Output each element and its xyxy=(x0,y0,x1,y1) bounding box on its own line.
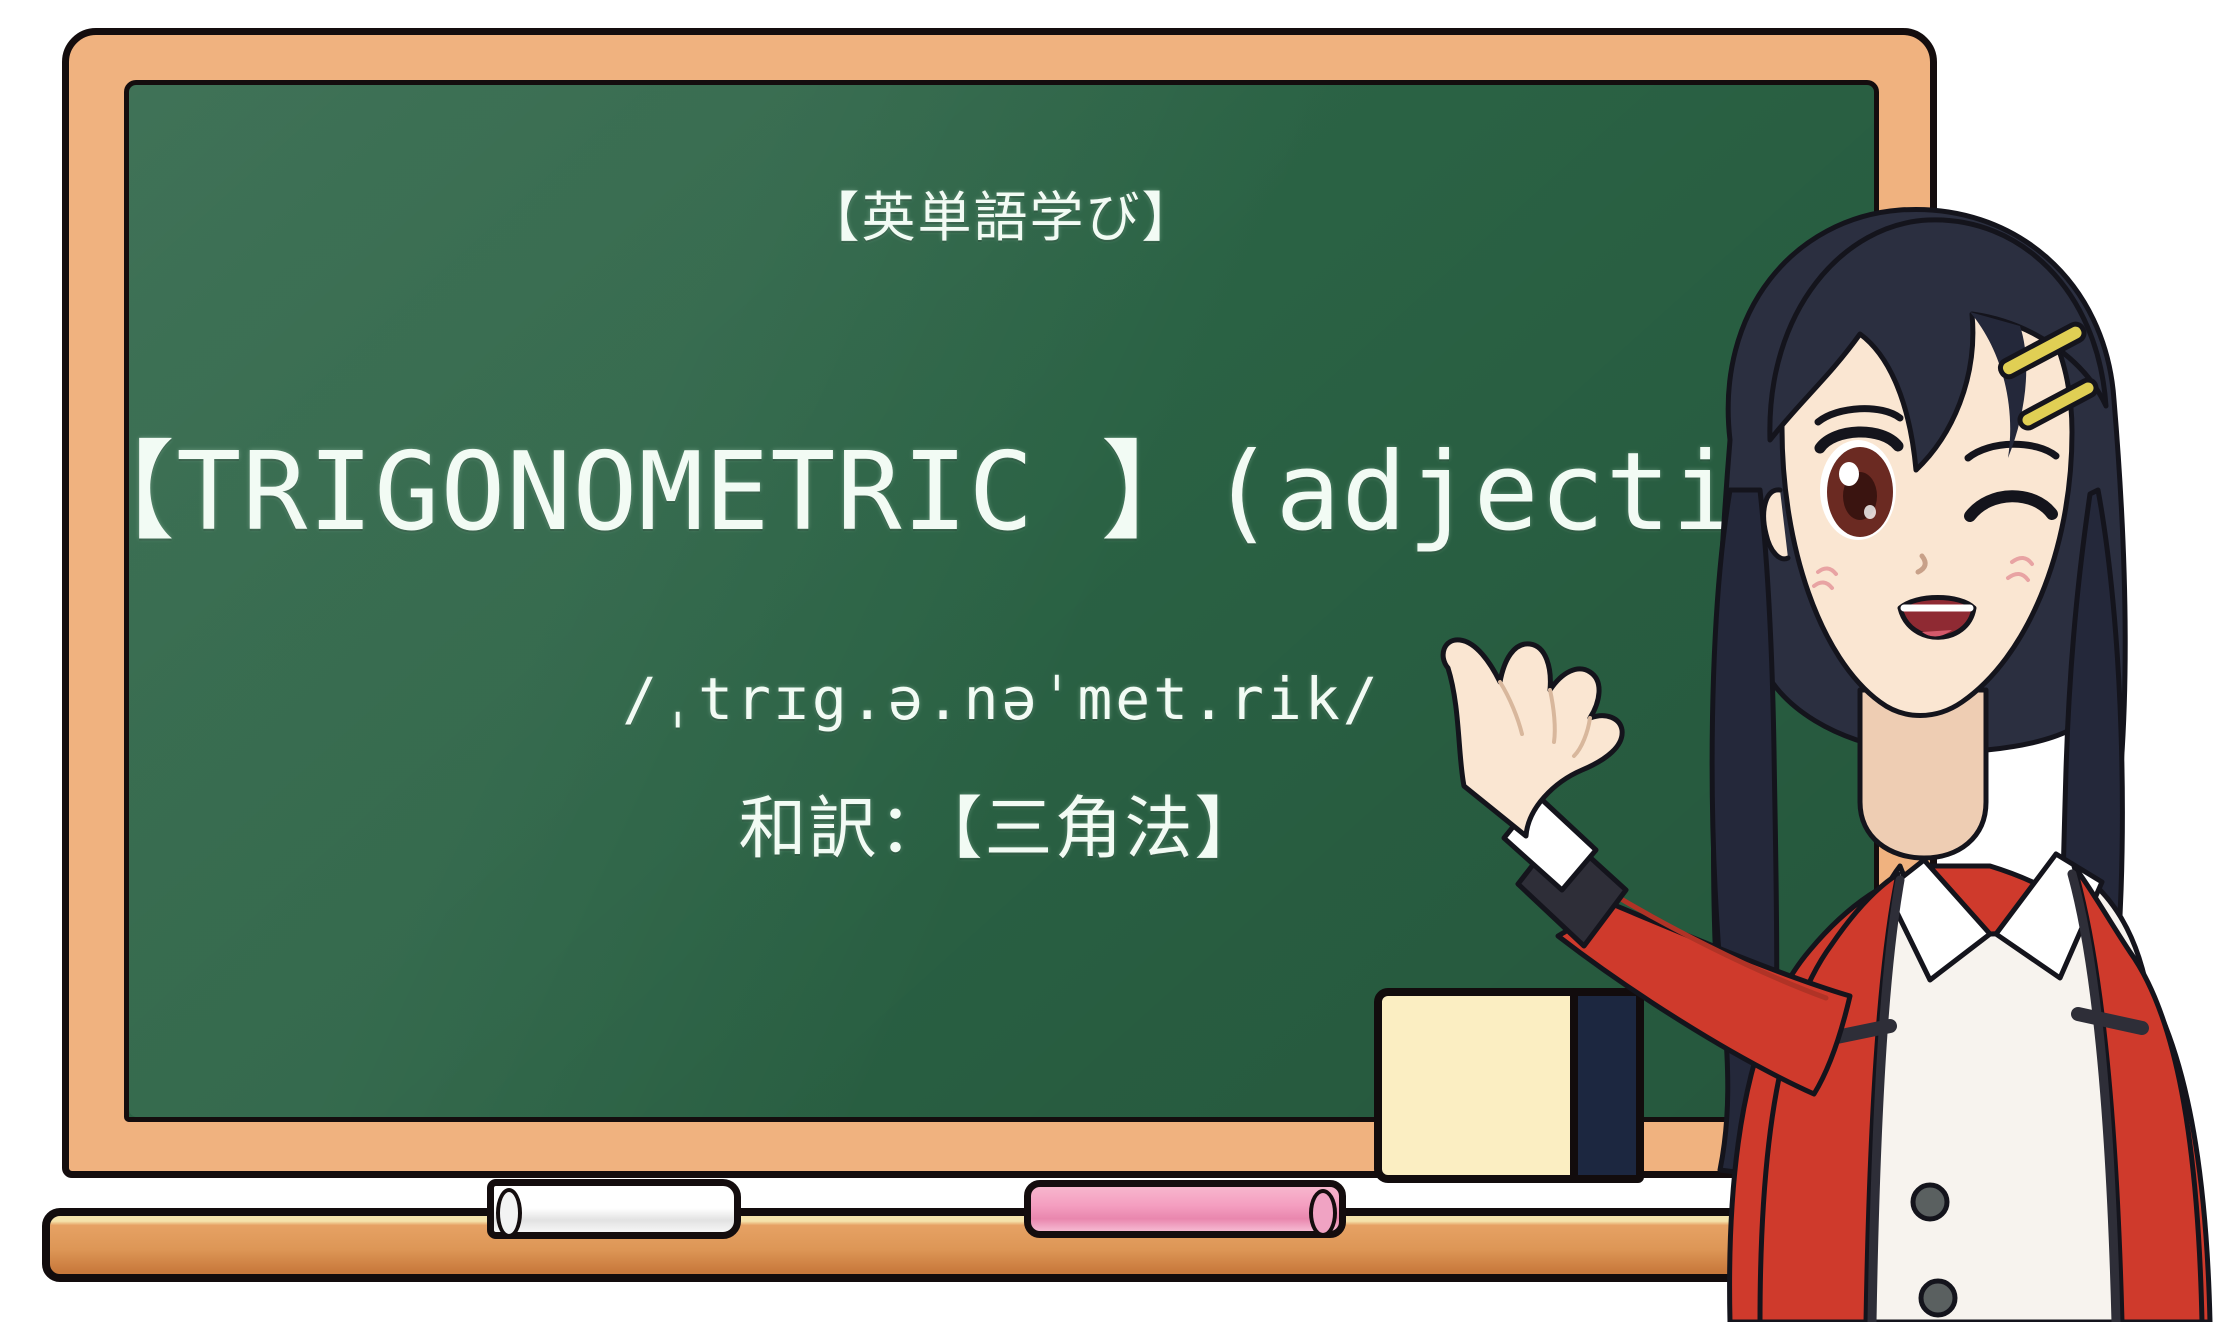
button-lower xyxy=(1921,1281,1955,1315)
button-upper xyxy=(1913,1185,1947,1219)
eye-open-highlight xyxy=(1839,462,1859,486)
anime-teacher-girl xyxy=(1430,190,2218,1322)
sleeve-arm xyxy=(1558,904,1850,1094)
hand xyxy=(1443,640,1622,836)
pink-chalk-stick xyxy=(1024,1180,1346,1238)
screenshot-root: 【英単語学び】 【TRIGONOMETRIC 】(adjective) /ˌtr… xyxy=(0,0,2218,1322)
eye-open-highlight-2 xyxy=(1864,505,1876,519)
white-chalk-stick xyxy=(487,1179,741,1239)
